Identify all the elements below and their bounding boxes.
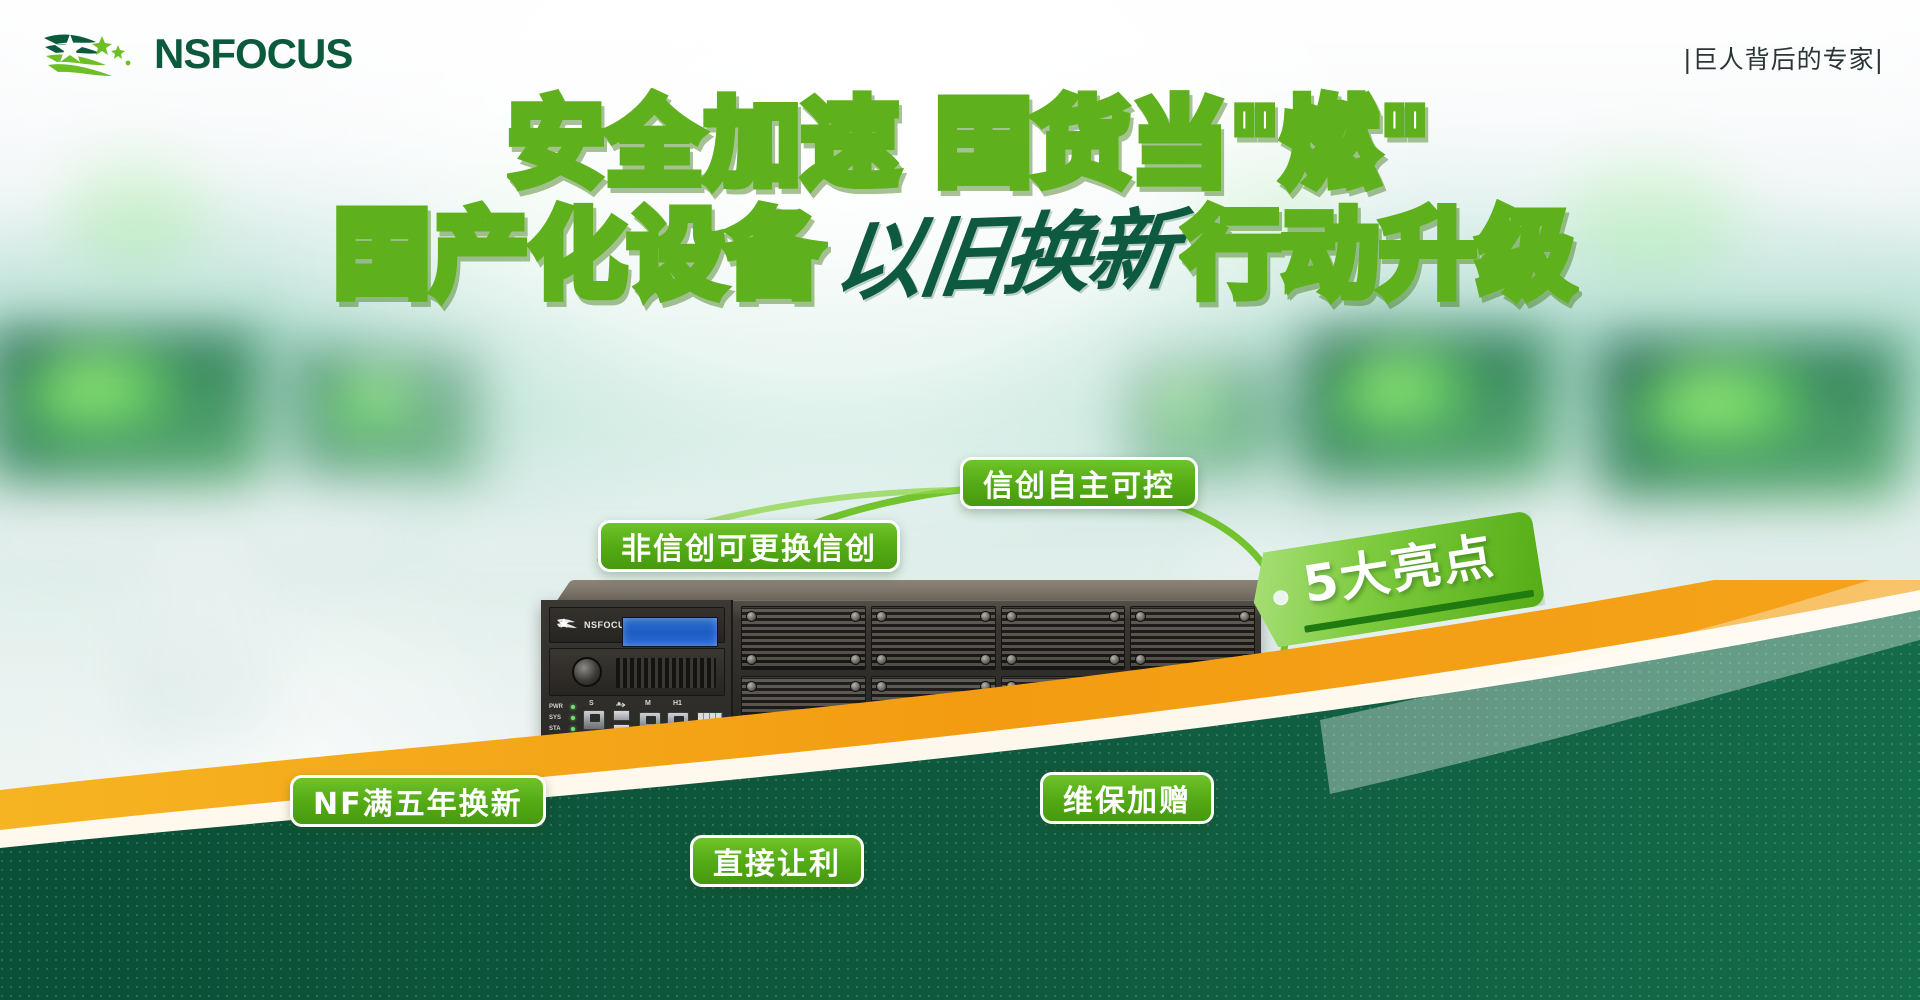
headline-brush-calligraphy: 以旧换新	[824, 205, 1185, 305]
headline-line-1: 安全加速 国货当"燃"	[20, 96, 1920, 193]
feature-pill-replace-nonxinchuang[interactable]: 非信创可更换信创	[598, 520, 900, 572]
bottom-ribbon-decoration	[0, 580, 1920, 1000]
headline-line-1-text: 安全加速 国货当"燃"	[508, 96, 1431, 192]
brand-logo-text: NSFOCUS	[154, 33, 352, 75]
headline-line-2-prefix: 国产化设备	[334, 207, 824, 303]
feature-pill-xinchuang-autonomous[interactable]: 信创自主可控	[960, 457, 1198, 509]
promo-banner: NSFOCUS |巨人背后的专家| 安全加速 国货当"燃" 国产化设备 以旧换新…	[0, 0, 1920, 1000]
nsfocus-flag-star-logo-icon	[40, 28, 140, 80]
brand-tagline: |巨人背后的专家|	[1683, 40, 1884, 76]
feature-pill-nf-five-year-renewal[interactable]: NF满五年换新	[290, 775, 546, 827]
banner-header: NSFOCUS |巨人背后的专家|	[0, 0, 1920, 110]
headline-block: 安全加速 国货当"燃" 国产化设备 以旧换新 行动升级	[0, 96, 1920, 303]
feature-pill-warranty-bonus[interactable]: 维保加赠	[1040, 772, 1214, 824]
headline-line-2-suffix: 行动升级	[1184, 207, 1576, 303]
brand-logo[interactable]: NSFOCUS	[40, 28, 352, 80]
feature-pill-direct-discount[interactable]: 直接让利	[690, 835, 864, 887]
headline-line-2: 国产化设备 以旧换新 行动升级	[0, 207, 1920, 303]
